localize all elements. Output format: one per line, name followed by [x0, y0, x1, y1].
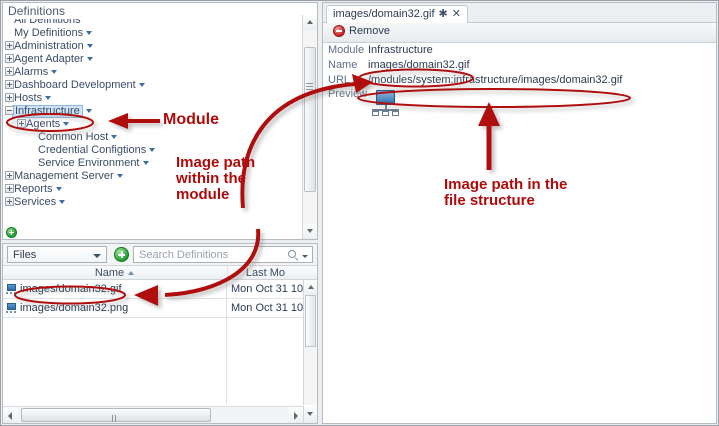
scrollbar-thumb[interactable] [21, 408, 211, 422]
expand-icon[interactable] [5, 54, 14, 63]
chevron-down-icon[interactable] [87, 57, 93, 61]
tree-spacer [29, 144, 38, 153]
tree-spacer [29, 157, 38, 166]
column-divider [226, 280, 227, 405]
editor-toolbar: Remove [323, 23, 716, 43]
tree-item-label: Dashboard Development [14, 79, 136, 92]
chevron-left-icon [8, 412, 12, 420]
chevron-down-icon[interactable] [45, 96, 51, 100]
search-input[interactable]: Search Definitions [133, 246, 313, 263]
expand-icon[interactable] [5, 184, 14, 193]
chevron-down-icon[interactable] [56, 187, 62, 191]
annotation-label-module: Module [163, 111, 219, 128]
tab-images-domain32-gif[interactable]: images/domain32.gif✱✕ [326, 5, 468, 23]
chevron-right-icon [294, 412, 298, 420]
tree-item-hosts[interactable]: Hosts [3, 92, 303, 105]
search-placeholder: Search Definitions [139, 249, 228, 261]
tree-item-common-host[interactable]: Common Host [3, 131, 303, 144]
definitions-tree-panel: Definitions All DefinitionsMy Definition… [2, 2, 318, 240]
expand-icon[interactable] [17, 119, 26, 128]
editor-panel: images/domain32.gif✱✕ Remove ModuleInfra… [322, 2, 717, 424]
file-properties-form: ModuleInfrastructureNameimages/domain32.… [323, 43, 716, 122]
chevron-down-icon[interactable] [63, 122, 69, 126]
field-label: Preview [328, 88, 367, 100]
tree-item-label: My Definitions [14, 27, 83, 40]
scroll-down-button[interactable] [303, 224, 317, 239]
tree-item-label: Credential Configtions [38, 144, 146, 157]
field-value[interactable]: Infrastructure [368, 43, 433, 58]
tree-spacer [29, 131, 38, 140]
collapse-icon[interactable] [5, 106, 14, 115]
field-url: URL/modules/system:infrastructure/images… [323, 73, 716, 88]
scrollbar-grip-icon [306, 83, 313, 90]
tree-vertical-scrollbar[interactable] [302, 15, 317, 239]
add-definition-button[interactable] [6, 227, 17, 238]
tree-item-label: Infrastructure [12, 105, 83, 118]
chevron-down-icon[interactable] [86, 109, 92, 113]
tree-item-label: Administration [14, 40, 84, 53]
scrollbar-grip-icon [112, 413, 120, 420]
file-icon [6, 284, 17, 294]
files-table-header: Name Last Mo [3, 266, 317, 280]
remove-button[interactable]: Remove [329, 25, 390, 41]
expand-icon[interactable] [5, 93, 14, 102]
scroll-left-button[interactable] [3, 407, 18, 423]
tree-item-label: Common Host [38, 131, 108, 144]
table-row[interactable]: images/domain32.gifMon Oct 31 10: [3, 280, 303, 299]
file-last-modified: Mon Oct 31 10: [231, 283, 306, 295]
expand-icon[interactable] [5, 67, 14, 76]
tab-label: images/domain32.gif [333, 8, 435, 20]
tree-item-credential-configtions[interactable]: Credential Configtions [3, 144, 303, 157]
chevron-down-icon[interactable] [149, 148, 155, 152]
chevron-down-icon [307, 229, 313, 233]
tab-strip: images/domain32.gif✱✕ [323, 3, 716, 23]
scrollbar-thumb[interactable] [304, 47, 316, 192]
annotation-label-file-structure: Image path in thefile structure [444, 177, 567, 209]
scroll-up-button[interactable] [304, 280, 317, 295]
remove-icon [333, 25, 345, 37]
tree-item-my-definitions[interactable]: My Definitions [3, 27, 303, 40]
field-label: Name [328, 58, 357, 73]
scroll-up-button[interactable] [303, 15, 317, 30]
files-toolbar: Files Search Definitions [3, 244, 317, 266]
tree-item-agents[interactable]: Agents [3, 118, 303, 131]
chevron-down-icon [307, 412, 313, 416]
expand-icon[interactable] [5, 41, 14, 50]
tree-item-label: Service Environment [38, 157, 140, 170]
chevron-down-icon[interactable] [51, 70, 57, 74]
chevron-down-icon[interactable] [59, 200, 65, 204]
expand-icon[interactable] [5, 80, 14, 89]
field-value[interactable]: images/domain32.gif [368, 58, 470, 73]
annotation-line: within the [176, 171, 255, 187]
tree-item-label: Services [14, 196, 56, 209]
column-header-name-label: Name [95, 267, 124, 279]
file-last-modified: Mon Oct 31 10: [231, 302, 306, 314]
field-preview: Preview [323, 88, 716, 122]
definitions-tree[interactable]: All DefinitionsMy DefinitionsAdministrat… [3, 17, 303, 209]
network-domain-icon [368, 90, 402, 116]
tree-item-label: Reports [14, 183, 53, 196]
column-header-name[interactable]: Name [3, 266, 226, 280]
tree-item-agent-adapter[interactable]: Agent Adapter [3, 53, 303, 66]
tree-item-label: Alarms [14, 66, 48, 79]
chevron-down-icon[interactable] [302, 255, 308, 258]
remove-button-label: Remove [349, 25, 390, 37]
field-label: Module [328, 43, 364, 58]
tree-item-label: Hosts [14, 92, 42, 105]
file-name: images/domain32.png [20, 302, 128, 314]
tree-item-services[interactable]: Services [3, 196, 303, 209]
scroll-right-button[interactable] [288, 407, 303, 423]
table-row[interactable]: images/domain32.pngMon Oct 31 10: [3, 299, 303, 318]
field-name: Nameimages/domain32.gif [323, 58, 716, 73]
scroll-down-button[interactable] [303, 406, 317, 423]
files-panel: Files Search Definitions Name Last Mo im… [2, 243, 318, 424]
files-horizontal-scrollbar[interactable] [3, 406, 303, 423]
chevron-down-icon[interactable] [139, 83, 145, 87]
sort-ascending-icon [128, 271, 134, 275]
tree-item-management-server[interactable]: Management Server [3, 170, 303, 183]
chevron-down-icon[interactable] [117, 174, 123, 178]
annotation-line: Image path [176, 155, 255, 171]
tree-spacer [5, 27, 14, 36]
field-label: URL [328, 73, 350, 88]
column-header-last-modified-label: Last Mo [246, 267, 285, 279]
chevron-up-icon [307, 20, 313, 24]
chevron-down-icon[interactable] [87, 44, 93, 48]
search-icon [288, 250, 298, 260]
chevron-down-icon[interactable] [86, 31, 92, 35]
chevron-down-icon[interactable] [143, 161, 149, 165]
chevron-down-icon[interactable] [111, 135, 117, 139]
tree-item-alarms[interactable]: Alarms [3, 66, 303, 79]
tree-item-infrastructure[interactable]: Infrastructure [3, 105, 303, 118]
annotation-label-within-module: Image pathwithin themodule [176, 155, 255, 204]
chevron-up-icon [308, 285, 314, 289]
annotation-line: module [176, 187, 255, 203]
tree-item-dashboard-development[interactable]: Dashboard Development [3, 79, 303, 92]
column-header-last-modified[interactable]: Last Mo [227, 266, 303, 280]
expand-icon[interactable] [5, 197, 14, 206]
chevron-down-icon [93, 254, 101, 258]
screenshot-root: Definitions All DefinitionsMy Definition… [0, 0, 719, 426]
tree-item-label: Agent Adapter [14, 53, 84, 66]
tree-item-label: Management Server [14, 170, 114, 183]
filter-select[interactable]: Files [7, 246, 107, 263]
tree-item-administration[interactable]: Administration [3, 40, 303, 53]
tree-item-reports[interactable]: Reports [3, 183, 303, 196]
filter-select-value: Files [13, 249, 36, 261]
file-icon [6, 303, 17, 313]
tree-item-label: Agents [26, 118, 60, 131]
annotation-line: Image path in the [444, 177, 567, 193]
add-file-button[interactable] [114, 247, 129, 262]
close-icon[interactable]: ✕ [452, 6, 461, 23]
tree-top-clip [3, 15, 303, 19]
field-value[interactable]: /modules/system:infrastructure/images/do… [368, 73, 622, 88]
scrollbar-thumb[interactable] [305, 295, 316, 347]
field-module: ModuleInfrastructure [323, 43, 716, 58]
files-vertical-scrollbar[interactable] [303, 280, 317, 405]
annotation-line: file structure [444, 193, 567, 209]
tree-item-service-environment[interactable]: Service Environment [3, 157, 303, 170]
pin-icon[interactable]: ✱ [439, 6, 448, 23]
expand-icon[interactable] [5, 171, 14, 180]
file-name: images/domain32.gif [20, 283, 122, 295]
